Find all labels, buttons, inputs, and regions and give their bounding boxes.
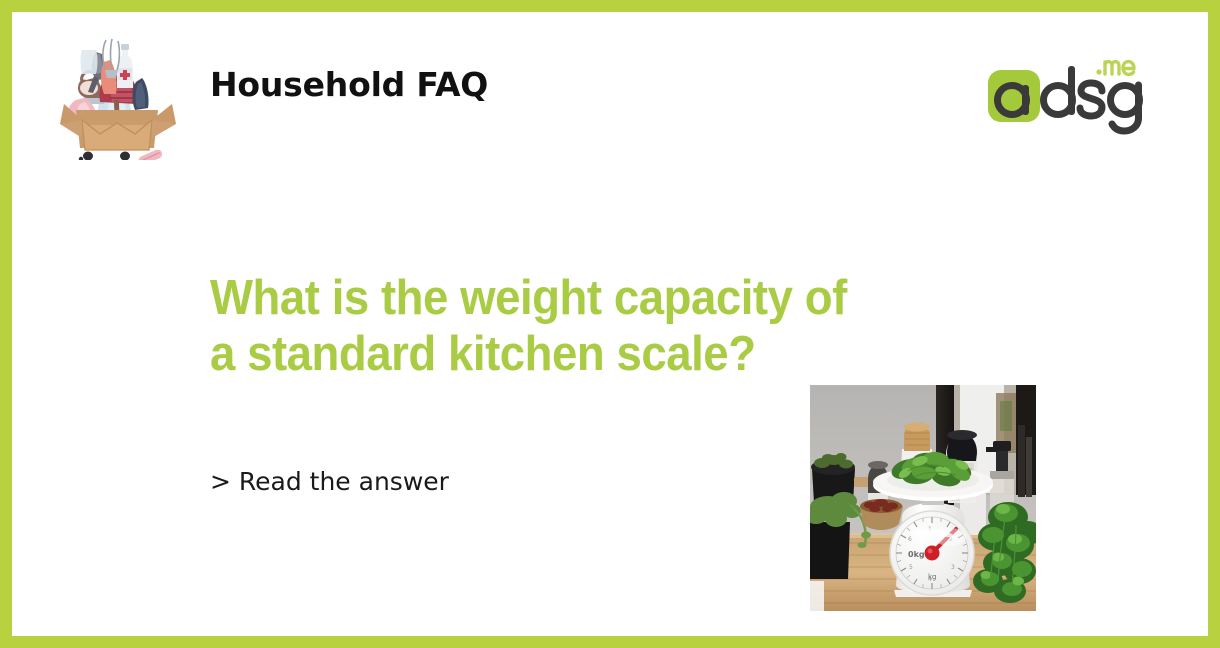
read-the-answer-link[interactable]: > Read the answer	[210, 467, 449, 496]
scale-dial-unit: kg	[928, 573, 937, 581]
header: Household FAQ	[12, 12, 1208, 162]
headline-line-1: What is the weight capacity of	[210, 270, 1028, 326]
kitchen-scale-photo: 1 2 3 4 5 6 0kg kg	[810, 385, 1036, 611]
headline: What is the weight capacity of a standar…	[210, 270, 1028, 382]
poster-page: Household FAQ	[0, 0, 1220, 648]
page-title: Household FAQ	[210, 65, 488, 104]
svg-text:6: 6	[908, 536, 912, 543]
svg-text:5: 5	[909, 564, 913, 571]
poster-canvas: Household FAQ	[12, 12, 1208, 636]
brand-logo[interactable]	[986, 52, 1156, 138]
svg-text:0kg: 0kg	[908, 550, 925, 559]
headline-line-2: a standard kitchen scale?	[210, 326, 1028, 382]
svg-text:3: 3	[951, 564, 955, 571]
cardboard-box-icon	[52, 30, 182, 160]
